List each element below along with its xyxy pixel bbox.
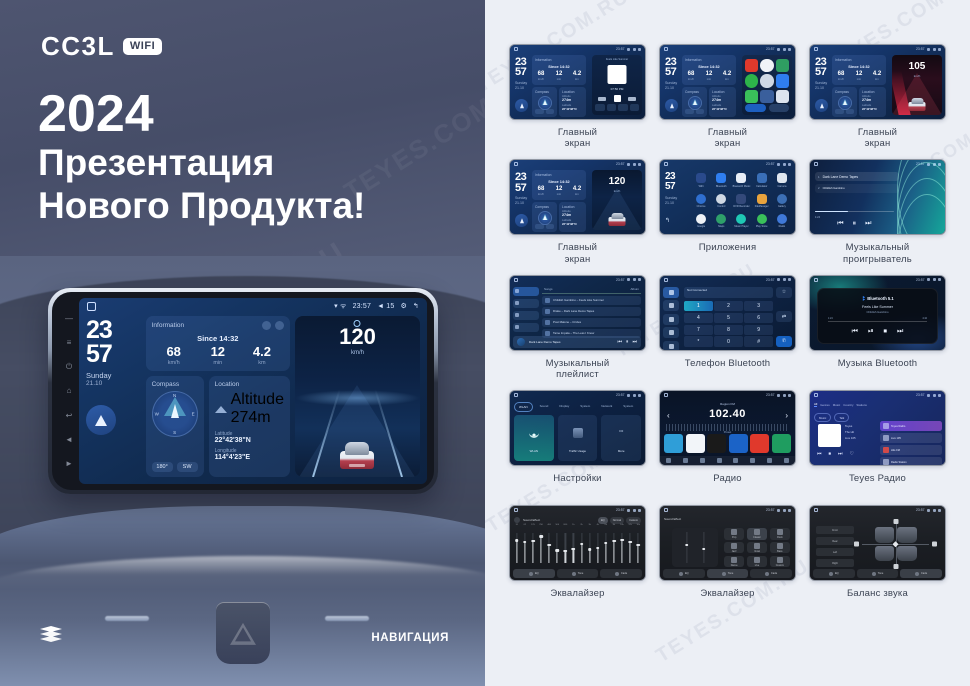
bt-music-card: Bluetooth 5.1 Feels Like Summer Childish… bbox=[817, 288, 938, 344]
station-meta: Teyes The Hit Live 105 bbox=[845, 424, 856, 442]
app-icon[interactable] bbox=[776, 59, 789, 72]
footer-fade[interactable]: Fade bbox=[750, 569, 792, 578]
head-unit-screen[interactable]: ▾ ᯤ 23:57 ◄ 15 ⚙ ↰ 23 57 Sunday bbox=[79, 298, 427, 484]
home-icon bbox=[664, 278, 668, 282]
eq-band-slider[interactable]: 500 bbox=[555, 529, 559, 567]
tab-genres[interactable]: Genres bbox=[820, 403, 829, 407]
compass-direction: SW bbox=[177, 462, 198, 472]
preset-pop[interactable]: Pop bbox=[724, 528, 744, 539]
prev-icon[interactable]: ⏮ bbox=[817, 451, 822, 457]
rds-icon[interactable] bbox=[733, 458, 738, 463]
preset-custom[interactable]: Custom bbox=[626, 517, 641, 524]
gallery-item[interactable]: 23:57 WLAN Sound Display System Network … bbox=[509, 390, 646, 495]
key-2[interactable]: 2 bbox=[714, 301, 743, 311]
history-tab[interactable] bbox=[663, 327, 679, 338]
preset-1[interactable] bbox=[664, 434, 683, 453]
brand-name: CC3L bbox=[41, 33, 115, 59]
key-5[interactable]: 5 bbox=[714, 313, 743, 323]
key-back-icon[interactable]: ↩ bbox=[65, 411, 74, 420]
gallery-item[interactable]: 23:57 Sound Effect Pop Classic Rock Jazz… bbox=[659, 505, 796, 610]
thumbnail-settings[interactable]: 23:57 WLAN Sound Display System Network … bbox=[509, 390, 646, 466]
apps-icon[interactable] bbox=[784, 458, 789, 463]
thumbnail-radio[interactable]: 23:57 Region FM ‹ 102.40 › Preset bbox=[659, 390, 796, 466]
brand-logo: CC3L WIFI bbox=[41, 33, 162, 59]
bt-artist: Childish Gambino bbox=[818, 310, 937, 314]
hud-panel[interactable]: 120 km/h bbox=[295, 316, 420, 477]
eq-band-label: 2k bbox=[580, 524, 582, 526]
home-icon bbox=[514, 508, 518, 512]
hero-panel: TEYES.COM.RU TEYES.COM.RU TEYES.COM.RU C… bbox=[0, 0, 485, 686]
clock-widget: 23 57 Sunday 21.10 bbox=[86, 316, 141, 477]
settings-icon[interactable] bbox=[767, 458, 772, 463]
eq-band-slider[interactable]: 12k bbox=[628, 529, 632, 567]
thumbnail-equalizer-tone[interactable]: 23:57 Sound Effect Pop Classic Rock Jazz… bbox=[659, 505, 796, 581]
bluetooth-title: Bluetooth 5.1 bbox=[818, 296, 937, 301]
latitude-row: Latitude 22°42'38"N bbox=[215, 431, 284, 444]
gallery-item[interactable]: 23:57 2357 Sunday21.10 Information Since… bbox=[809, 44, 946, 149]
settings-card-traffic[interactable]: Traffic Usage bbox=[558, 415, 598, 461]
key-power-icon[interactable]: ⏻ bbox=[65, 362, 74, 371]
headline-year: 2024 bbox=[38, 88, 365, 141]
home-icon[interactable] bbox=[87, 302, 96, 311]
app-icon[interactable] bbox=[760, 90, 773, 103]
tab-network[interactable]: Network bbox=[597, 402, 616, 412]
eq-band-label: 10k bbox=[620, 524, 624, 526]
home-icon bbox=[814, 393, 818, 397]
footer-eq[interactable]: EQ bbox=[663, 569, 705, 578]
footer-tone[interactable]: Tone bbox=[557, 569, 599, 578]
gallery-item[interactable]: 23:57 Not Connected 1 2 3 bbox=[659, 275, 796, 380]
app-icon[interactable] bbox=[760, 59, 773, 72]
air-vent-right bbox=[325, 616, 369, 621]
stat-duration: 12 min bbox=[196, 345, 240, 366]
station-row[interactable]: Live 105 bbox=[880, 433, 942, 443]
station-row[interactable]: Hits FM bbox=[880, 445, 942, 455]
preset-3[interactable] bbox=[707, 434, 726, 453]
stat-distance: 4.2 km bbox=[240, 345, 284, 366]
thumbnail-home-3[interactable]: 23:57 2357 Sunday21.10 Information Since… bbox=[809, 44, 946, 120]
band-icon[interactable] bbox=[666, 458, 671, 463]
playlist-sidebar[interactable] bbox=[513, 287, 539, 335]
eq-band-label: 3k bbox=[588, 524, 590, 526]
preset-list[interactable] bbox=[664, 434, 791, 453]
app-tile[interactable]: Bluetooth Music bbox=[732, 171, 750, 189]
eq-band-slider[interactable]: 3k bbox=[588, 529, 592, 567]
preset-2[interactable] bbox=[686, 434, 705, 453]
next-icon[interactable]: ⏭ bbox=[865, 220, 871, 228]
head-unit: — ≡ ⏻ ⌂ ↩ ◄ ► ▾ ᯤ 23:57 bbox=[48, 288, 438, 494]
key-4[interactable]: 4 bbox=[684, 313, 713, 323]
tab-system[interactable]: System bbox=[576, 402, 594, 412]
gallery-item[interactable]: 23:57 All Genres Music Country Stations … bbox=[809, 390, 946, 495]
stop-icon[interactable]: ⏹ bbox=[884, 328, 888, 336]
subtab-music[interactable]: Music bbox=[814, 413, 831, 422]
app-icon[interactable] bbox=[745, 90, 758, 103]
wifi-badge: WIFI bbox=[123, 38, 162, 55]
scan-icon[interactable] bbox=[717, 458, 722, 463]
equalizer-footer-tabs[interactable]: EQ Tone Fade bbox=[513, 569, 642, 578]
key-6[interactable]: 6 bbox=[744, 313, 773, 323]
stat-speed: 68 km/h bbox=[152, 345, 196, 366]
thumbnail-bt-phone[interactable]: 23:57 Not Connected 1 2 3 bbox=[659, 275, 796, 351]
eq-band-slider[interactable]: 8k bbox=[612, 529, 616, 567]
preset-normal[interactable]: Normal bbox=[610, 517, 624, 524]
back-icon[interactable]: ↰ bbox=[413, 302, 419, 310]
key-volume-down-icon[interactable]: ◄ bbox=[65, 435, 74, 444]
balance-node-right[interactable] bbox=[932, 542, 937, 547]
compass-rose: N E S W bbox=[152, 391, 198, 437]
eq-band-slider[interactable]: 800 bbox=[564, 529, 568, 567]
hardware-key-rail: — ≡ ⏻ ⌂ ↩ ◄ ► bbox=[59, 298, 79, 484]
footer-tone[interactable]: Tone bbox=[707, 569, 749, 578]
navigation-button[interactable] bbox=[515, 99, 528, 112]
hud-speed-value: 120 bbox=[295, 326, 420, 348]
thumbnail-caption: Музыка Bluetooth bbox=[809, 358, 946, 380]
playlist-row[interactable]: Drake – Dark Lane Demo Tapes bbox=[542, 307, 641, 316]
next-station-icon[interactable]: › bbox=[785, 411, 788, 420]
gallery-item[interactable]: 23:57 2357 Sunday21.10 ↰ WiFi Bluetooth … bbox=[659, 159, 796, 264]
eq-band-slider[interactable]: 4k bbox=[596, 529, 600, 567]
track-row[interactable]: 2Childish Gambino bbox=[815, 184, 899, 193]
gallery-item[interactable]: 23:57 Bluetooth 5.1 Feels Like Summer Ch… bbox=[809, 275, 946, 380]
eq-band-slider[interactable]: 1k bbox=[572, 529, 576, 567]
eq-band-label: 400 bbox=[547, 524, 551, 526]
gallery-item[interactable]: 23:57 Region FM ‹ 102.40 › Preset bbox=[659, 390, 796, 495]
balance-stage[interactable] bbox=[862, 522, 929, 566]
progress-bar[interactable] bbox=[828, 321, 927, 322]
headline-line-2: Нового Продукта! bbox=[38, 184, 365, 227]
phone-sidebar[interactable] bbox=[663, 287, 679, 351]
footer-fade[interactable]: Fade bbox=[900, 569, 942, 578]
station-row[interactable]: Teyes Radio bbox=[880, 421, 942, 431]
key-3[interactable]: 3 bbox=[744, 301, 773, 311]
navigation-label: НАВИГАЦИЯ bbox=[371, 632, 449, 644]
home-icon bbox=[664, 393, 668, 397]
equalizer-presets[interactable]: EQ Normal Custom bbox=[598, 517, 641, 524]
tone-sliders[interactable] bbox=[672, 528, 718, 567]
compass-e: E bbox=[192, 412, 195, 417]
eq-band-slider[interactable]: 250 bbox=[539, 529, 543, 567]
thumbnail-caption: Музыкальный проигрыватель bbox=[809, 242, 946, 264]
preset-5[interactable] bbox=[750, 434, 769, 453]
eq-band-label: 8k bbox=[613, 524, 615, 526]
tab-stations[interactable]: Stations bbox=[856, 403, 866, 407]
app-tile[interactable]: DVR Recorder bbox=[732, 192, 750, 210]
app-tile[interactable]: Radio bbox=[773, 212, 791, 230]
stop-icon[interactable]: ⏹ bbox=[829, 451, 832, 457]
gallery-item[interactable]: 23:57 2357 Sunday21.10 Information Since… bbox=[509, 44, 646, 149]
thumbnail-home-1[interactable]: 23:57 2357 Sunday21.10 Information Since… bbox=[509, 44, 646, 120]
preset-vocal[interactable]: Vocal bbox=[747, 542, 767, 553]
thumbnail-caption: Teyes Радио bbox=[809, 473, 946, 495]
next-icon[interactable]: ⏭ bbox=[632, 339, 637, 345]
equalizer-band-sliders[interactable]: 31621252504005008001k2k3k4k6k8k10k12k16k bbox=[515, 529, 640, 567]
clock-hours: 23 bbox=[86, 319, 141, 343]
playlist-row[interactable]: Post Malone – Circles bbox=[542, 318, 641, 327]
navigation-button[interactable] bbox=[86, 405, 116, 435]
thumbnail-bt-music[interactable]: 23:57 Bluetooth 5.1 Feels Like Summer Ch… bbox=[809, 275, 946, 351]
thumbnail-home-4[interactable]: 23:57 2357 Sunday21.10 Information Since… bbox=[509, 159, 646, 235]
next-icon[interactable]: ⏭ bbox=[897, 328, 903, 336]
eq-icon[interactable] bbox=[750, 458, 755, 463]
more-icon: ••• bbox=[616, 428, 626, 438]
tab-wlan[interactable]: WLAN bbox=[514, 402, 533, 412]
prev-icon[interactable]: ⏮ bbox=[852, 328, 858, 336]
pause-icon[interactable]: ⏸ bbox=[853, 220, 857, 228]
key-home-icon[interactable]: ⌂ bbox=[65, 386, 74, 395]
home-icon bbox=[814, 162, 818, 166]
tab-sound[interactable]: Sound bbox=[536, 402, 553, 412]
eq-band-label: 800 bbox=[564, 524, 568, 526]
eq-band-slider[interactable]: 31 bbox=[515, 529, 519, 567]
back-icon[interactable]: ↰ bbox=[665, 217, 670, 224]
track-row[interactable]: 1Dark Lane Demo Tapes bbox=[815, 172, 899, 181]
app-icon[interactable] bbox=[776, 74, 789, 87]
dialpad-tab[interactable] bbox=[663, 287, 679, 298]
hud-widget[interactable]: 105 km/h bbox=[892, 55, 942, 115]
expand-icon[interactable] bbox=[275, 321, 284, 330]
settings-card-wlan[interactable]: WLAN bbox=[514, 415, 554, 461]
app-tile[interactable]: Play Store bbox=[753, 212, 771, 230]
app-tile[interactable]: Chrome bbox=[692, 192, 710, 210]
information-since: Since 14:32 bbox=[152, 334, 284, 343]
thumbnail-equalizer-bands[interactable]: 23:57 Sound Effect EQ Normal Custom 3162… bbox=[509, 505, 646, 581]
preset-rock[interactable]: Rock bbox=[770, 528, 790, 539]
eq-band-slider[interactable]: 62 bbox=[523, 529, 527, 567]
key-nav-icon[interactable]: ≡ bbox=[65, 338, 74, 347]
compass-card: Compass N E S W bbox=[146, 376, 204, 477]
key-star[interactable]: * bbox=[684, 336, 713, 346]
eq-band-label: 500 bbox=[555, 524, 559, 526]
balance-node-front[interactable] bbox=[893, 519, 898, 524]
app-icon[interactable] bbox=[745, 59, 758, 72]
player-controls[interactable]: ⏮ ⏯ ⏹ ⏭ bbox=[818, 328, 937, 336]
subtab-talk[interactable]: Talk bbox=[834, 413, 849, 422]
contacts-tab[interactable] bbox=[663, 300, 679, 311]
thumbnail-teyes-radio[interactable]: 23:57 All Genres Music Country Stations … bbox=[809, 390, 946, 466]
eq-band-slider[interactable]: 10k bbox=[620, 529, 624, 567]
app-tile[interactable]: WiFi bbox=[692, 171, 710, 189]
stat-distance-unit: km bbox=[240, 360, 284, 366]
preset-custom[interactable]: Custom bbox=[770, 556, 790, 567]
tab-all[interactable]: All bbox=[814, 402, 817, 407]
tab-music[interactable]: Music bbox=[833, 403, 841, 407]
balance-node-left[interactable] bbox=[854, 542, 859, 547]
location-title: Location bbox=[215, 381, 284, 388]
information-card: Information Since 14:32 68km/h 12min 4.2… bbox=[532, 55, 586, 85]
wifi-icon bbox=[529, 428, 539, 438]
row-right: Right bbox=[816, 559, 854, 567]
footer-eq[interactable]: EQ bbox=[513, 569, 555, 578]
hazard-button[interactable] bbox=[216, 602, 270, 664]
app-tile[interactable]: Gallery bbox=[773, 192, 791, 210]
settings-card-more[interactable]: ••• More bbox=[601, 415, 641, 461]
thumbnail-caption: Эквалайзер bbox=[509, 588, 646, 610]
tab-system-2[interactable]: System bbox=[619, 402, 637, 412]
footer-fade[interactable]: Fade bbox=[600, 569, 642, 578]
preset-dance[interactable]: Dance bbox=[724, 556, 744, 567]
preset-6[interactable] bbox=[772, 434, 791, 453]
key-mute-icon[interactable]: — bbox=[65, 314, 74, 323]
app-tile[interactable]: Maps bbox=[712, 212, 730, 230]
preset-jazz[interactable]: Jazz bbox=[724, 542, 744, 553]
teyes-radio-tabs[interactable]: All Genres Music Country Stations bbox=[814, 402, 941, 407]
radio-toolbar[interactable] bbox=[660, 456, 795, 465]
row-left: Left bbox=[816, 548, 854, 556]
stat-duration-value: 12 bbox=[196, 345, 240, 358]
thumbnail-playlist[interactable]: 23:57 SongsAlbum Childish Gambino – Feel… bbox=[509, 275, 646, 351]
app-icon[interactable] bbox=[760, 74, 773, 87]
dial-pad[interactable]: 1 2 3 4 5 6 7 8 9 * 0 # bbox=[684, 301, 773, 347]
footer-tone[interactable]: Tone bbox=[857, 569, 899, 578]
teyes-radio-subtabs[interactable]: Music Talk bbox=[814, 413, 849, 422]
thumbnail-music-player[interactable]: 23:57 1Dark Lane Demo Tapes 2Childish Ga… bbox=[809, 159, 946, 235]
key-1[interactable]: 1 bbox=[684, 301, 713, 311]
station-list[interactable]: Teyes Radio Live 105 Hits FM Radio Stati… bbox=[880, 421, 942, 461]
compass-w: W bbox=[155, 412, 159, 417]
app-icon[interactable] bbox=[776, 90, 789, 103]
key-volume-up-icon[interactable]: ► bbox=[65, 459, 74, 468]
clock-weekday: Sunday bbox=[86, 371, 141, 380]
phone-number-field[interactable]: Not Connected bbox=[684, 287, 773, 298]
key-9[interactable]: 9 bbox=[744, 325, 773, 335]
presentation-page: TEYES.COM.RU TEYES.COM.RU TEYES.COM.RU C… bbox=[0, 0, 970, 686]
app-tile[interactable]: Control bbox=[712, 192, 730, 210]
transfer-icon[interactable]: ⇄ bbox=[776, 311, 792, 322]
eq-band-slider[interactable]: 6k bbox=[604, 529, 608, 567]
now-playing-bar[interactable]: Dark Lane Demo Tapes ⏮ ⏸ ⏭ bbox=[513, 336, 641, 348]
compass-n: N bbox=[173, 393, 176, 398]
eq-band-slider[interactable]: 2k bbox=[580, 529, 584, 567]
gallery-item[interactable]: 23:57 1Dark Lane Demo Tapes 2Childish Ga… bbox=[809, 159, 946, 264]
apps-widget[interactable] bbox=[742, 55, 792, 115]
star-icon[interactable]: ☆ bbox=[776, 287, 792, 298]
search-tab[interactable] bbox=[663, 314, 679, 325]
prev-icon[interactable]: ⏮ bbox=[617, 339, 622, 345]
volume-indicator: ◄ 15 bbox=[377, 303, 394, 310]
thumbnail-caption: Радио bbox=[659, 473, 796, 495]
key-hash[interactable]: # bbox=[744, 336, 773, 346]
key-0[interactable]: 0 bbox=[714, 336, 743, 346]
hud-speed-unit: km/h bbox=[295, 350, 420, 356]
playlist-row[interactable]: Childish Gambino – Feels Like Summer bbox=[542, 296, 641, 305]
search-icon[interactable] bbox=[683, 458, 688, 463]
gallery-item[interactable]: 23:57 2357 Sunday21.10 Information Since… bbox=[659, 44, 796, 149]
balance-value-rows: Front Rear Left Right bbox=[816, 526, 854, 570]
settings-tab[interactable] bbox=[663, 341, 679, 351]
equalizer-footer-tabs[interactable]: EQ Tone Fade bbox=[663, 569, 792, 578]
home-icon bbox=[664, 162, 668, 166]
stat-speed-value: 68 bbox=[152, 345, 196, 358]
gear-icon[interactable]: ⚙ bbox=[400, 302, 406, 310]
bluetooth-icon bbox=[861, 296, 865, 301]
location-card: Location Altitude274m Latitude22°42'38"N bbox=[559, 87, 586, 117]
dashboard-photo: — ≡ ⏻ ⌂ ↩ ◄ ► ▾ ᯤ 23:57 bbox=[0, 256, 485, 686]
app-tile[interactable]: Calculator bbox=[753, 171, 771, 189]
eq-band-slider[interactable]: 16k bbox=[636, 529, 640, 567]
gallery-item[interactable]: 23:57 Front Rear Left Right bbox=[809, 505, 946, 610]
thumbnail-apps[interactable]: 23:57 2357 Sunday21.10 ↰ WiFi Bluetooth … bbox=[659, 159, 796, 235]
bt-song-title: Feels Like Summer bbox=[818, 305, 937, 309]
app-tile[interactable]: Music Player bbox=[732, 212, 750, 230]
headline-line-1: Презентация bbox=[38, 141, 365, 184]
key-8[interactable]: 8 bbox=[714, 325, 743, 335]
home-icon bbox=[814, 508, 818, 512]
information-card: Information Since 14:32 bbox=[146, 316, 290, 371]
preset-live[interactable]: Live bbox=[747, 556, 767, 567]
tone-preset-buttons[interactable]: Pop Classic Rock Jazz Vocal Bass Dance L… bbox=[724, 528, 790, 567]
settings-tabs[interactable]: WLAN Sound Display System Network System bbox=[514, 402, 641, 412]
call-icon[interactable]: ✆ bbox=[776, 336, 792, 347]
tab-country[interactable]: Country bbox=[843, 403, 853, 407]
gallery-item[interactable]: 23:57 SongsAlbum Childish Gambino – Feel… bbox=[509, 275, 646, 380]
column-album: Album bbox=[630, 287, 639, 291]
station-row[interactable]: Radio Station bbox=[880, 457, 942, 466]
app-tile[interactable]: Google bbox=[692, 212, 710, 230]
navigation-button[interactable] bbox=[815, 99, 828, 112]
app-tile[interactable]: FileManager bbox=[753, 192, 771, 210]
app-icon[interactable] bbox=[745, 74, 758, 87]
tab-display[interactable]: Display bbox=[555, 402, 573, 412]
app-tile[interactable]: Camera bbox=[773, 171, 791, 189]
music-widget[interactable]: Feels Like Summer 07:50 PM bbox=[592, 55, 642, 115]
status-time: 23:57 bbox=[353, 303, 372, 310]
gallery-item[interactable]: 23:57 2357 Sunday21.10 Information Since… bbox=[509, 159, 646, 264]
favorite-icon[interactable]: ♡ bbox=[850, 451, 854, 457]
pause-icon[interactable]: ⏸ bbox=[626, 339, 629, 345]
player-controls[interactable]: ⏮ ⏸ ⏭ bbox=[815, 220, 894, 228]
hud-widget[interactable]: 120 km/h bbox=[592, 170, 642, 230]
eq-band-label: 125 bbox=[531, 524, 535, 526]
list-icon[interactable] bbox=[700, 458, 705, 463]
gallery-item[interactable]: 23:57 Sound Effect EQ Normal Custom 3162… bbox=[509, 505, 646, 610]
refresh-icon[interactable] bbox=[262, 321, 271, 330]
preset-classic[interactable]: Classic bbox=[747, 528, 767, 539]
chart-icon bbox=[573, 428, 583, 438]
navigation-button[interactable] bbox=[665, 99, 678, 112]
mini-date: Sunday21.10 bbox=[515, 81, 527, 90]
play-pause-icon[interactable]: ⏯ bbox=[868, 328, 874, 336]
stat-speed-unit: km/h bbox=[152, 360, 196, 366]
next-icon[interactable]: ⏭ bbox=[838, 451, 843, 457]
tone-slider-2[interactable] bbox=[702, 532, 706, 563]
time-total: 4:42 bbox=[922, 317, 927, 320]
album-art bbox=[608, 65, 627, 84]
app-tile[interactable]: Bluetooth bbox=[712, 171, 730, 189]
eq-band-label: 16k bbox=[636, 524, 640, 526]
preset-eq[interactable]: EQ bbox=[598, 517, 608, 524]
thumbnail-balance[interactable]: 23:57 Front Rear Left Right bbox=[809, 505, 946, 581]
equalizer-footer-tabs[interactable]: EQ Tone Fade bbox=[813, 569, 942, 578]
radio-frequency: 102.40 bbox=[660, 408, 795, 420]
eq-band-slider[interactable]: 400 bbox=[547, 529, 551, 567]
preset-bass[interactable]: Bass bbox=[770, 542, 790, 553]
elapsed-time: 1:24 bbox=[815, 216, 820, 219]
key-7[interactable]: 7 bbox=[684, 325, 713, 335]
location-card: Location Altitude 274m bbox=[209, 376, 290, 477]
player-controls[interactable]: ⏮ ⏹ ⏭ ♡ bbox=[817, 451, 854, 457]
air-vent-left bbox=[105, 616, 149, 621]
row-front: Front bbox=[816, 526, 854, 534]
prev-icon[interactable]: ⏮ bbox=[837, 220, 843, 228]
footer-eq[interactable]: EQ bbox=[813, 569, 855, 578]
eq-band-slider[interactable]: 125 bbox=[531, 529, 535, 567]
thumbnail-caption: Баланс звука bbox=[809, 588, 946, 610]
preset-4[interactable] bbox=[729, 434, 748, 453]
mountain-icon bbox=[215, 406, 227, 413]
tone-slider-1[interactable] bbox=[685, 532, 689, 563]
thumbnail-home-2[interactable]: 23:57 2357 Sunday21.10 Information Since… bbox=[659, 44, 796, 120]
